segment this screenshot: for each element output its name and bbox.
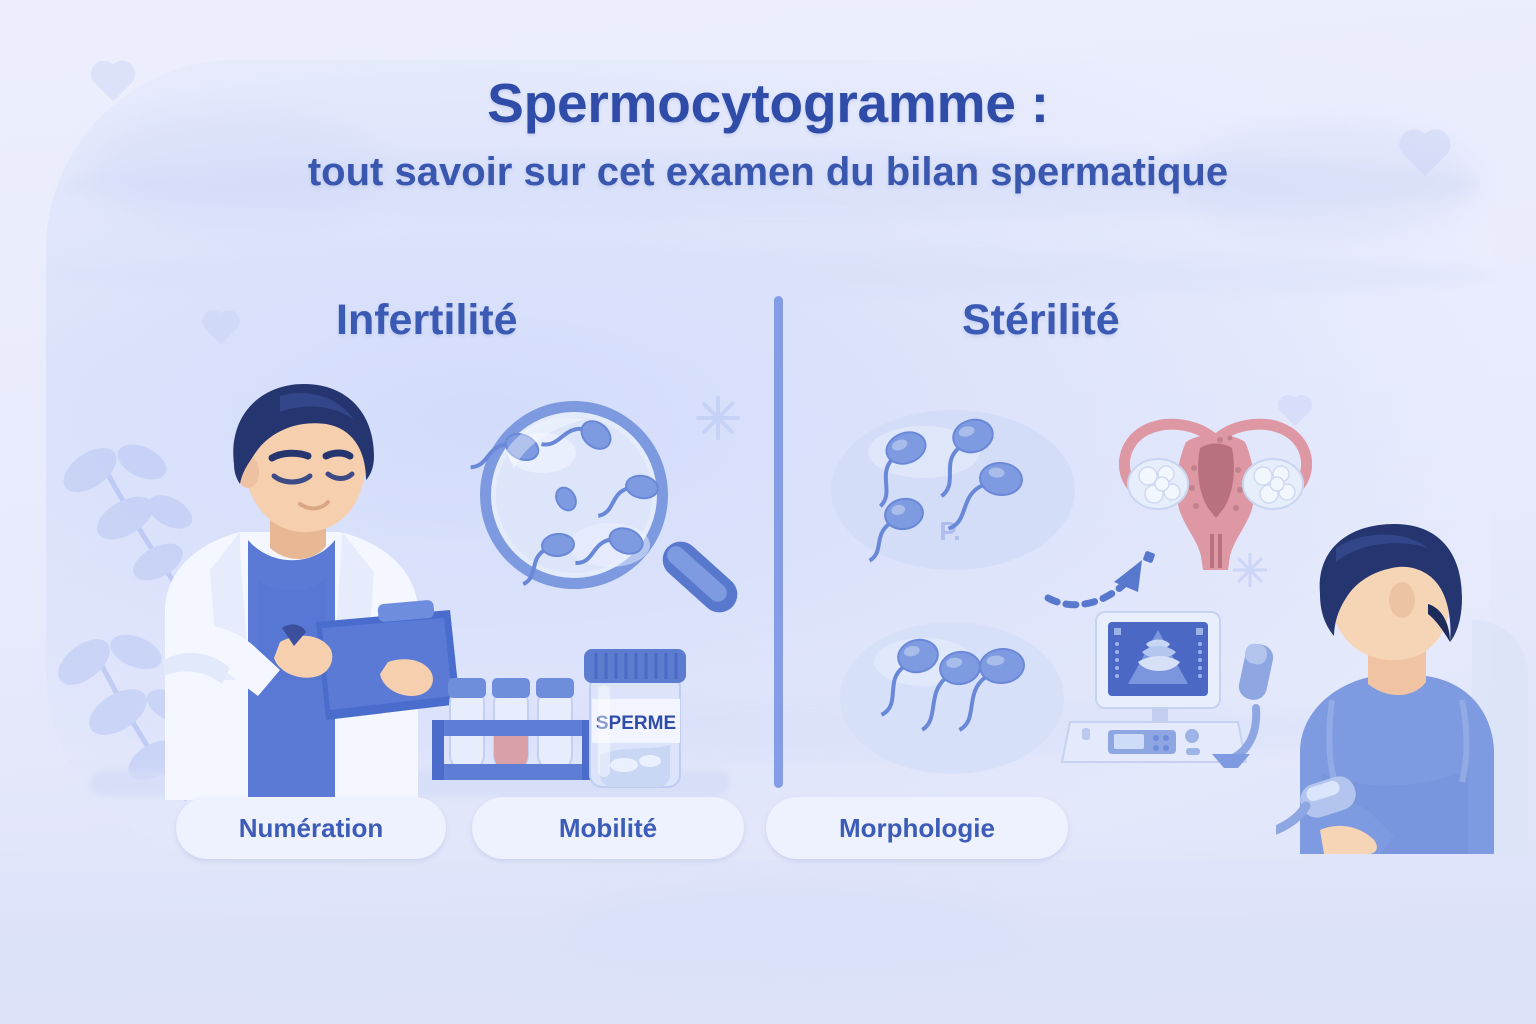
test-tube-rack-illustration <box>428 668 598 788</box>
infographic-canvas: Spermocytogramme : tout savoir sur cet e… <box>0 0 1536 1024</box>
page-title: Spermocytogramme : <box>0 74 1536 132</box>
header-block: Spermocytogramme : tout savoir sur cet e… <box>0 74 1536 194</box>
dashed-curved-arrow-icon <box>1040 546 1160 618</box>
pill-mobilite[interactable]: Mobilité <box>472 797 744 859</box>
magnifier-illustration <box>470 395 760 645</box>
ultrasound-machine-illustration <box>1060 596 1290 796</box>
pill-numeration[interactable]: Numération <box>176 797 446 859</box>
bg-band-2 <box>40 250 1500 300</box>
pill-morphologie[interactable]: Morphologie <box>766 797 1068 859</box>
sperm-group-bottom-illustration <box>838 618 1066 783</box>
panel-divider <box>774 296 783 788</box>
sperm-sample-jar-illustration: SPERME <box>578 645 692 790</box>
section-heading-sterilite: Stérilité <box>962 296 1120 345</box>
patient-illustration <box>1276 524 1536 854</box>
section-heading-infertilite: Infertilité <box>336 296 518 345</box>
page-subtitle: tout savoir sur cet examen du bilan sper… <box>0 150 1536 194</box>
bottom-fade <box>0 834 1536 1024</box>
